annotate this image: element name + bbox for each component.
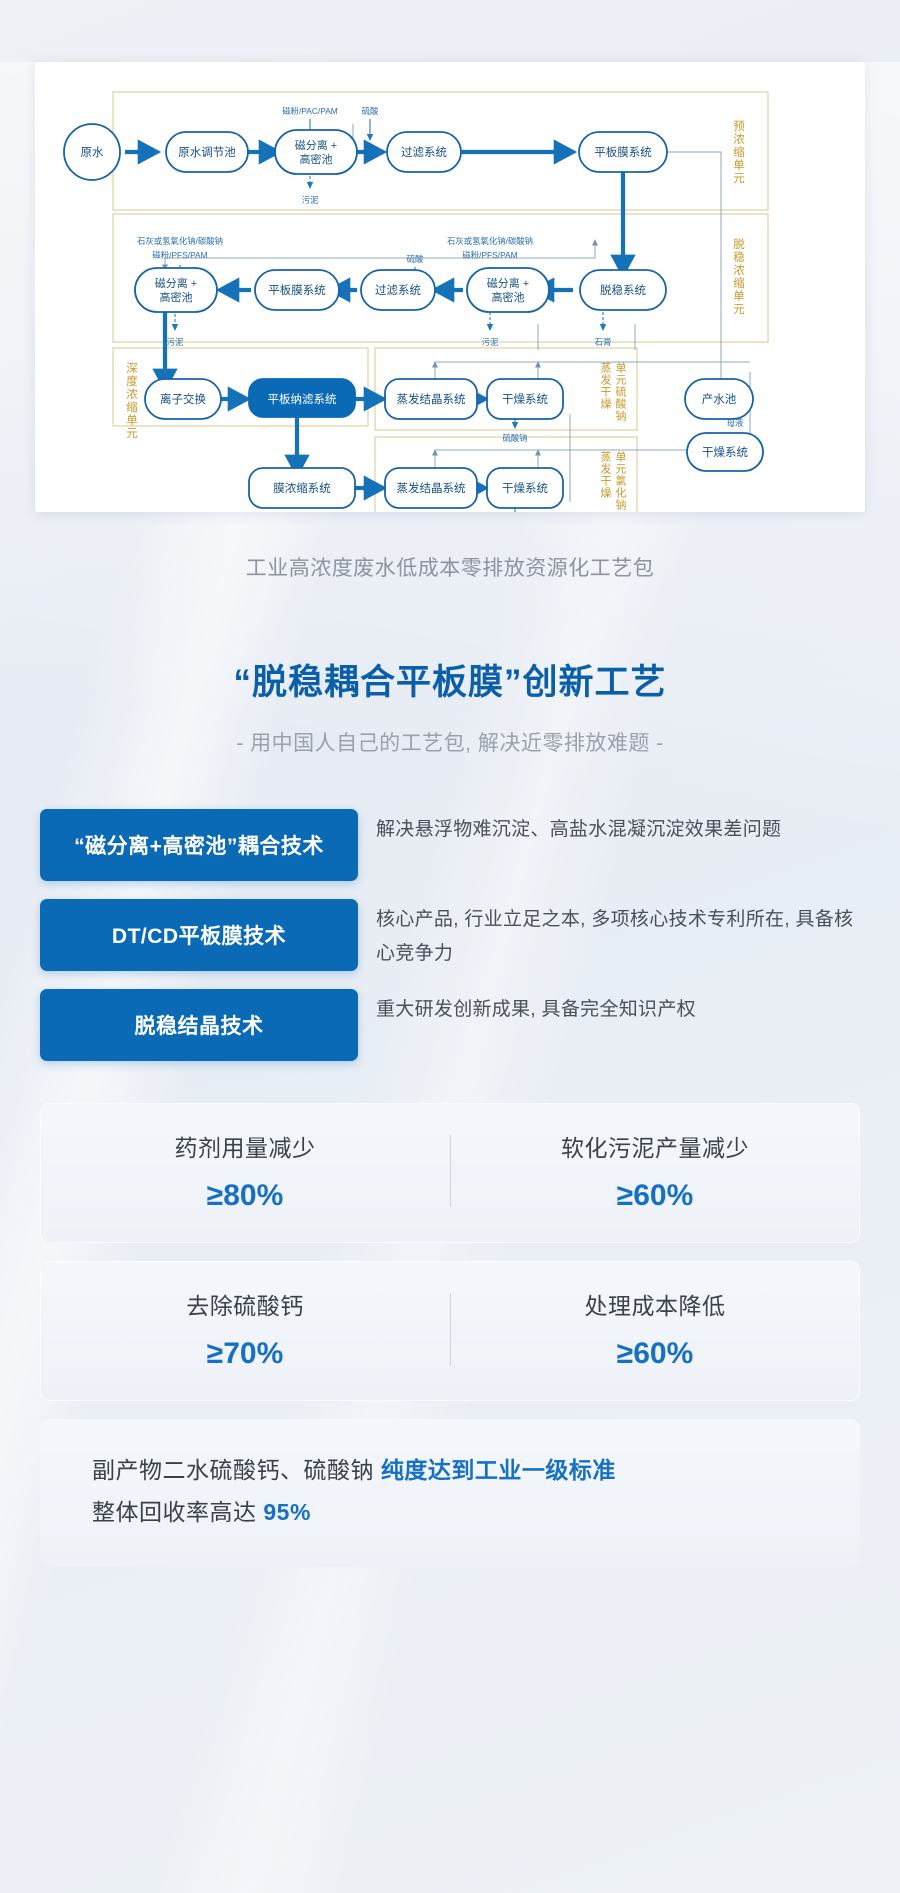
node-filter-1: 过滤系统 [387, 132, 461, 172]
diagram-caption: 工业高浓度废水低成本零排放资源化工艺包 [0, 552, 900, 582]
feature-list: “磁分离+高密池”耦合技术 解决悬浮物难沉淀、高盐水混凝沉淀效果差问题 DT/C… [40, 809, 860, 1061]
node-flat-membrane-2: 平板膜系统 [255, 270, 339, 310]
process-flow-diagram: 预浓缩单元 脱稳浓缩单元 深度浓缩单元 单元硫酸钠 蒸发干燥 单元氯 [35, 62, 865, 512]
node-flat-membrane-1: 平板膜系统 [579, 132, 667, 172]
node-destab: 脱稳系统 [580, 270, 666, 310]
page-subtitle: - 用中国人自己的工艺包, 解决近零排放难题 - [0, 727, 900, 757]
edge-label-dosing-2a: 石灰或氢氧化钠/碳酸钠 [137, 236, 223, 246]
svg-text:蒸发干燥: 蒸发干燥 [599, 451, 612, 499]
svg-text:干燥系统: 干燥系统 [702, 446, 748, 459]
node-evap-cryst-2: 蒸发结晶系统 [385, 468, 477, 508]
svg-text:磁分离 +: 磁分离 + [487, 276, 529, 290]
svg-text:平板膜系统: 平板膜系统 [268, 283, 326, 297]
node-filter-2: 过滤系统 [361, 270, 435, 310]
svg-text:产水池: 产水池 [702, 392, 737, 406]
edge-label-sludge-3: 污泥 [482, 337, 499, 347]
svg-text:单元硫酸钠: 单元硫酸钠 [614, 362, 627, 422]
svg-text:干燥系统: 干燥系统 [502, 482, 548, 495]
node-membrane-concentrate: 膜浓缩系统 [249, 468, 355, 508]
stat-card-row-1: 药剂用量减少 ≥80% 软化污泥产量减少 ≥60% [40, 1103, 860, 1243]
stat-card-row-2: 去除硫酸钙 ≥70% 处理成本降低 ≥60% [40, 1261, 860, 1401]
node-drying-2: 干燥系统 [487, 468, 563, 508]
svg-text:过滤系统: 过滤系统 [401, 146, 447, 159]
stat-treatment-cost: 处理成本降低 ≥60% [450, 1287, 860, 1371]
edge-label-sludge-1: 污泥 [302, 195, 319, 205]
stat-card-list: 药剂用量减少 ≥80% 软化污泥产量减少 ≥60% 去除硫酸钙 ≥70% 处理成… [40, 1103, 860, 1567]
svg-text:原水: 原水 [81, 146, 104, 159]
feature-tag-magnetic-separation[interactable]: “磁分离+高密池”耦合技术 [40, 809, 358, 881]
page-title: “脱稳耦合平板膜”创新工艺 [0, 654, 900, 705]
svg-text:磁分离 +: 磁分离 + [295, 138, 337, 152]
svg-text:预浓缩单元: 预浓缩单元 [732, 120, 745, 185]
svg-text:磁分离 +: 磁分离 + [155, 276, 197, 290]
svg-text:单元氯化钠: 单元氯化钠 [614, 451, 627, 511]
svg-text:高密池: 高密池 [492, 290, 525, 304]
svg-text:蒸发结晶系统: 蒸发结晶系统 [397, 392, 466, 406]
svg-text:原水调节池: 原水调节池 [178, 146, 236, 159]
stat-softening-sludge: 软化污泥产量减少 ≥60% [450, 1129, 860, 1213]
svg-text:蒸发结晶系统: 蒸发结晶系统 [397, 481, 466, 495]
stat-value: ≥70% [40, 1337, 450, 1371]
stat-label: 软化污泥产量减少 [450, 1129, 860, 1163]
feature-desc-destab-crystallization: 重大研发创新成果, 具备完全知识产权 [358, 989, 860, 1027]
svg-text:高密池: 高密池 [160, 290, 193, 304]
stat-calcium-sulfate-removal: 去除硫酸钙 ≥70% [40, 1287, 450, 1371]
svg-text:干燥系统: 干燥系统 [502, 393, 548, 406]
node-ion-exchange: 离子交换 [145, 379, 221, 419]
svg-text:平板纳滤系统: 平板纳滤系统 [268, 392, 337, 406]
svg-text:膜浓缩系统: 膜浓缩系统 [273, 481, 331, 495]
node-evap-cryst-1: 蒸发结晶系统 [385, 379, 477, 419]
feature-row: “磁分离+高密池”耦合技术 解决悬浮物难沉淀、高盐水混凝沉淀效果差问题 [40, 809, 860, 881]
process-flow-diagram-card: 预浓缩单元 脱稳浓缩单元 深度浓缩单元 单元硫酸钠 蒸发干燥 单元氯 [35, 62, 865, 512]
summary-line-1-prefix: 副产物二水硫酸钙、硫酸钠 [92, 1457, 374, 1483]
edge-label-dosing-3a: 石灰或氢氧化钠/碳酸钠 [447, 236, 533, 246]
summary-line-2: 整体回收率高达 95% [92, 1491, 860, 1533]
feature-desc-dt-cd-membrane: 核心产品, 行业立足之本, 多项核心技术专利所在, 具备核心竞争力 [358, 899, 860, 971]
summary-card: 副产物二水硫酸钙、硫酸钠 纯度达到工业一级标准 整体回收率高达 95% [40, 1419, 860, 1567]
edge-label-sludge-2: 污泥 [167, 337, 184, 347]
summary-line-2-prefix: 整体回收率高达 [92, 1499, 257, 1525]
svg-text:脱稳浓缩单元: 脱稳浓缩单元 [732, 237, 745, 316]
feature-row: DT/CD平板膜技术 核心产品, 行业立足之本, 多项核心技术专利所在, 具备核… [40, 899, 860, 971]
feature-tag-destab-crystallization[interactable]: 脱稳结晶技术 [40, 989, 358, 1061]
feature-row: 脱稳结晶技术 重大研发创新成果, 具备完全知识产权 [40, 989, 860, 1061]
svg-text:脱稳系统: 脱稳系统 [600, 283, 646, 297]
page-root: 预浓缩单元 脱稳浓缩单元 深度浓缩单元 单元硫酸钠 蒸发干燥 单元氯 [0, 62, 900, 1567]
node-mag-hd-2: 磁分离 + 高密池 [135, 268, 217, 312]
node-product-pool: 产水池 [685, 379, 753, 419]
svg-text:平板膜系统: 平板膜系统 [594, 145, 652, 159]
summary-line-1-emphasis: 纯度达到工业一级标准 [381, 1457, 616, 1483]
svg-text:深度浓缩单元: 深度浓缩单元 [125, 361, 138, 440]
edge-label-acid-2: 硫酸 [407, 254, 424, 264]
stat-label: 药剂用量减少 [40, 1129, 450, 1163]
node-raw-water: 原水 [64, 124, 120, 180]
node-drying-3: 干燥系统 [687, 433, 763, 471]
summary-line-1: 副产物二水硫酸钙、硫酸钠 纯度达到工业一级标准 [92, 1449, 860, 1491]
svg-text:高密池: 高密池 [300, 152, 333, 166]
svg-text:过滤系统: 过滤系统 [375, 284, 421, 297]
edge-label-sodium-sulfate: 硫酸钠 [502, 433, 527, 443]
node-flat-nano: 平板纳滤系统 [249, 379, 355, 417]
stat-chemical-dosage: 药剂用量减少 ≥80% [40, 1129, 450, 1213]
node-drying-1: 干燥系统 [487, 379, 563, 419]
feature-tag-dt-cd-membrane[interactable]: DT/CD平板膜技术 [40, 899, 358, 971]
edge-label-gypsum: 石膏 [595, 337, 612, 347]
edge-label-dosing-3b: 磁粉/PFS/PAM [462, 250, 517, 260]
summary-line-2-emphasis: 95% [263, 1499, 311, 1525]
edge-label-dosing-2b: 磁粉/PFS/PAM [152, 250, 207, 260]
stat-value: ≥60% [450, 1179, 860, 1213]
feature-desc-magnetic-separation: 解决悬浮物难沉淀、高盐水混凝沉淀效果差问题 [358, 809, 860, 847]
stat-value: ≥60% [450, 1337, 860, 1371]
stat-label: 去除硫酸钙 [40, 1287, 450, 1321]
node-mag-hd-1: 磁分离 + 高密池 [275, 130, 357, 174]
headline-block: “脱稳耦合平板膜”创新工艺 - 用中国人自己的工艺包, 解决近零排放难题 - [0, 654, 900, 757]
edge-label-acid-1: 硫酸 [362, 106, 379, 116]
svg-text:蒸发干燥: 蒸发干燥 [599, 362, 612, 410]
node-raw-water-tank: 原水调节池 [166, 132, 248, 172]
stat-label: 处理成本降低 [450, 1287, 860, 1321]
node-mag-hd-3: 磁分离 + 高密池 [467, 268, 549, 312]
svg-text:离子交换: 离子交换 [160, 392, 206, 406]
stat-value: ≥80% [40, 1179, 450, 1213]
edge-label-dosing-1: 磁粉/PAC/PAM [282, 106, 338, 116]
